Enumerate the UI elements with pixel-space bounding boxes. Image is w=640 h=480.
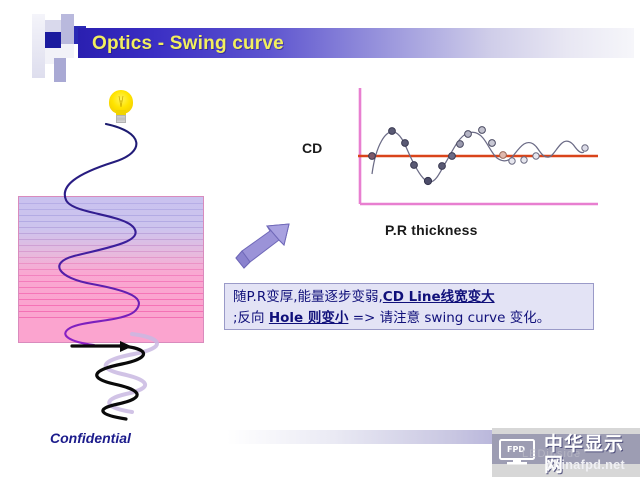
note-line2-emphasis: Hole 则变小 (269, 310, 349, 326)
logo-bar-7 (54, 58, 66, 82)
chart-x-axis-label: P.R thickness (385, 222, 478, 238)
note-line2-pre: ;反向 (233, 310, 269, 326)
note-line1-pre: 随P.R变厚,能量逐步变弱, (233, 289, 383, 305)
lightbulb-icon (106, 90, 136, 126)
logo-bar-4 (61, 14, 74, 44)
note-line2-post: => 请注意 swing curve 变化。 (348, 310, 550, 326)
site-watermark: FPD LEDinside 中华显示网 chinafpd.net (492, 428, 640, 477)
logo-bar-3 (45, 32, 61, 48)
watermark-domain: chinafpd.net (546, 458, 625, 472)
note-line1-emphasis: CD Line线宽变大 (383, 289, 495, 305)
explanation-note: 随P.R变厚,能量逐步变弱,CD Line线宽变大 ;反向 Hole 则变小 =… (224, 283, 594, 330)
swing-curve-chart (300, 86, 600, 236)
logo-bar-1 (32, 14, 45, 78)
logo-bar-2 (45, 20, 61, 32)
callout-arrow (234, 218, 298, 272)
optics-illustration (14, 86, 224, 362)
note-line-1: 随P.R变厚,能量逐步变弱,CD Line线宽变大 (233, 287, 585, 308)
sine-wave-incident (14, 122, 224, 352)
bulb-filament (118, 95, 124, 109)
confidential-label: Confidential (50, 430, 131, 446)
note-line-2: ;反向 Hole 则变小 => 请注意 swing curve 变化。 (233, 308, 585, 329)
sine-wave-reflected (14, 322, 224, 432)
logo-bar-5 (61, 44, 74, 58)
chart-y-axis-label: CD (302, 140, 322, 156)
page-title: Optics - Swing curve (92, 31, 284, 57)
slide-canvas: Optics - Swing curve (0, 0, 640, 480)
